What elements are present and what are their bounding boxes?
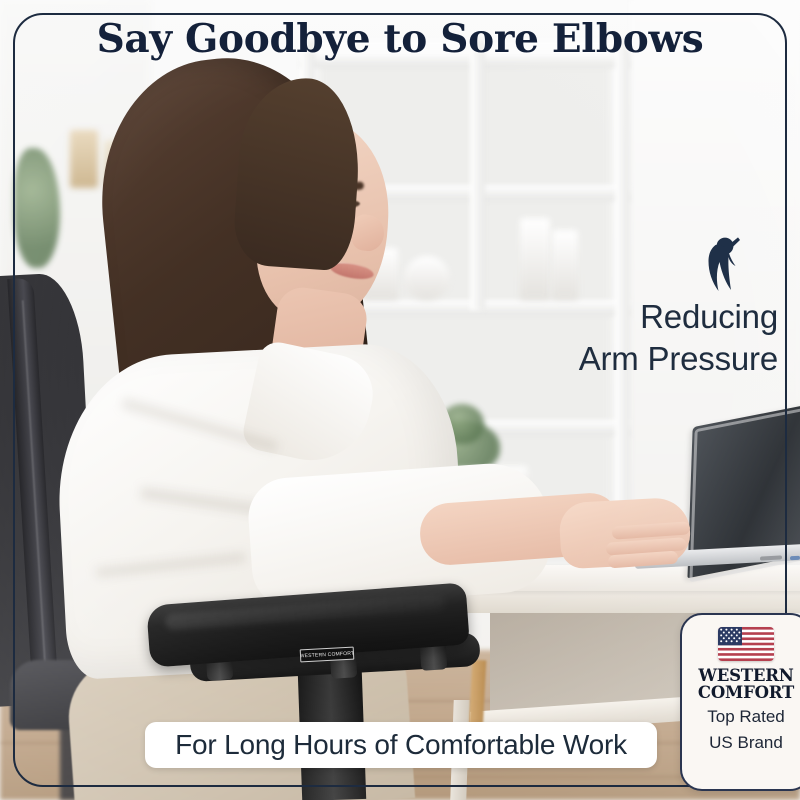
badge-brand-line-1: WESTERN	[694, 667, 798, 684]
laptop-usb-port	[790, 556, 800, 561]
feature-line-2: Arm Pressure	[498, 338, 778, 380]
shelf-object	[70, 130, 98, 188]
feature-callout: Reducing Arm Pressure	[498, 236, 778, 380]
badge-sub-line-2: US Brand	[694, 733, 798, 754]
promo-image: WESTERN COMFORT Say Goodbye to Sore Elbo…	[0, 0, 800, 800]
badge-sub-line-1: Top Rated	[694, 707, 798, 728]
us-flag-icon	[718, 627, 774, 661]
page-title: Say Goodbye to Sore Elbows	[0, 16, 800, 62]
caption-banner: For Long Hours of Comfortable Work	[145, 722, 657, 768]
brand-badge: WESTERN COMFORT Top Rated US Brand	[680, 613, 800, 791]
shelf-object	[404, 256, 450, 300]
shelf-divider	[470, 40, 485, 310]
caption-text: For Long Hours of Comfortable Work	[175, 729, 627, 761]
active-person-icon	[698, 236, 742, 296]
badge-brand-line-2: COMFORT	[694, 684, 798, 701]
feature-line-1: Reducing	[498, 296, 778, 338]
us-flag-svg	[718, 627, 774, 661]
desk-front-edge	[448, 591, 800, 613]
product-brand-tag-text: WESTERN COMFORT	[300, 650, 355, 659]
